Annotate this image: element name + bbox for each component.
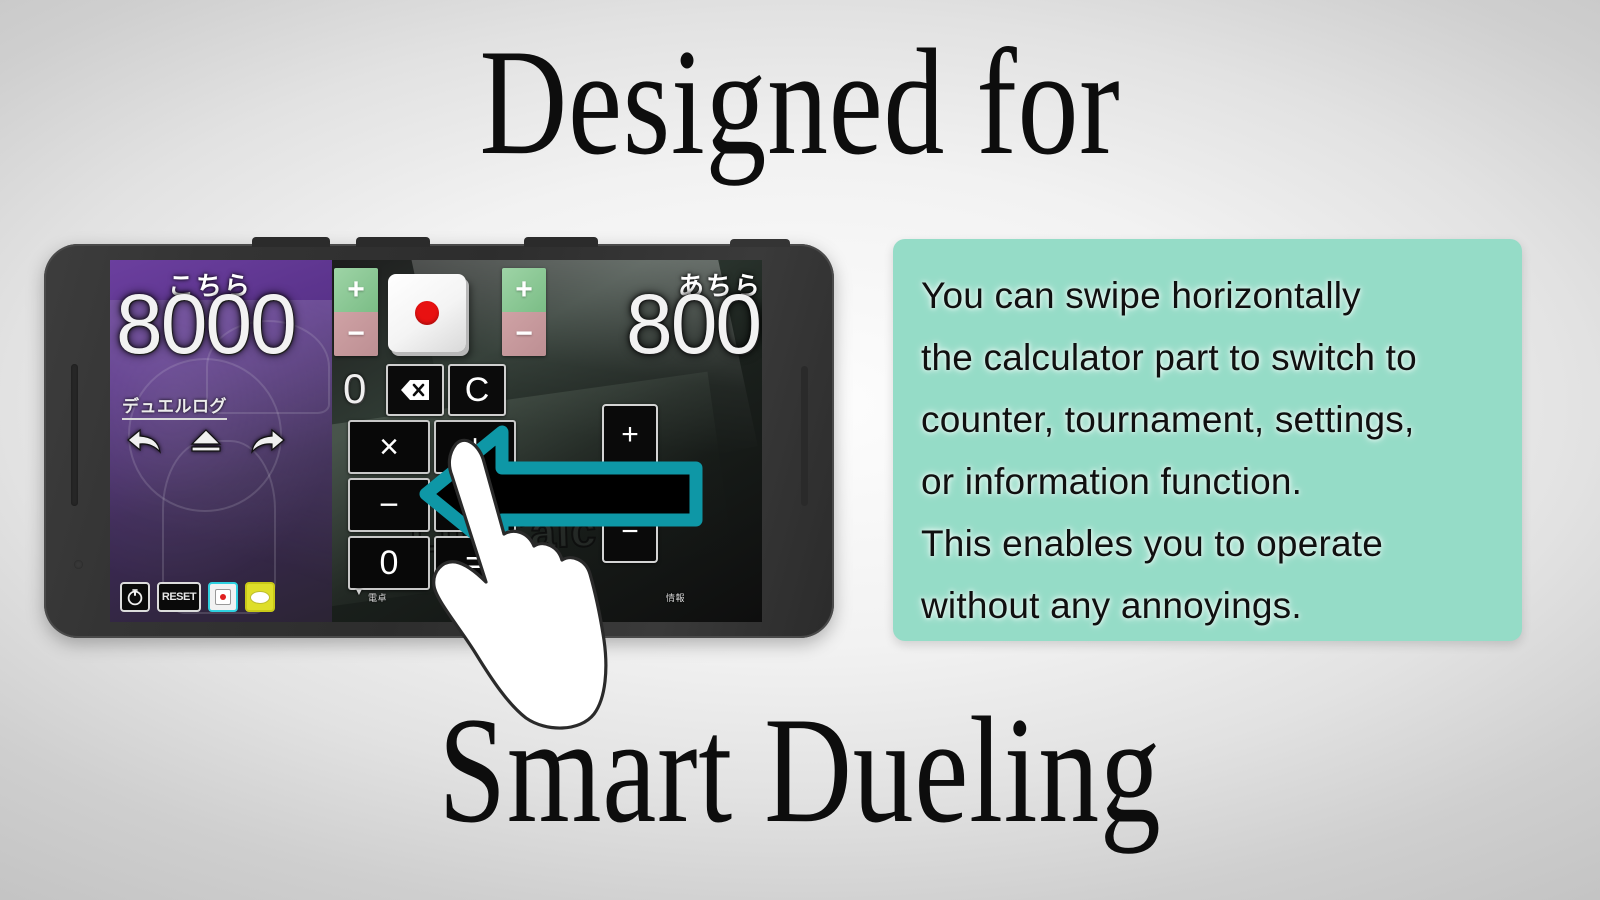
- page-title-top: Designed for: [160, 26, 1440, 178]
- calculator-key-minus[interactable]: −: [348, 478, 430, 532]
- calculator-display: 0: [343, 368, 366, 410]
- reset-button[interactable]: RESET: [157, 582, 201, 612]
- duel-log: デュエルログ: [122, 392, 292, 459]
- info-panel-text: You can swipe horizontally the calculato…: [921, 265, 1496, 637]
- dice-roll-button[interactable]: [388, 274, 466, 352]
- coin-icon[interactable]: [245, 582, 275, 612]
- phone-top-notch: [252, 237, 330, 247]
- calculator-clear-key[interactable]: C: [448, 364, 506, 416]
- backspace-icon: [400, 379, 430, 401]
- promo-screenshot: Designed for LifeCalc こちら 8000 あちら 8000: [0, 0, 1600, 900]
- phone-camera-icon: [74, 560, 83, 569]
- eject-icon[interactable]: [184, 423, 228, 459]
- phone-screen: LifeCalc こちら 8000 あちら 8000 デュエルログ: [110, 260, 762, 622]
- info-line: You can swipe horizontally: [921, 265, 1496, 327]
- minus-icon: −: [347, 319, 365, 349]
- counter-value: 0: [602, 466, 654, 501]
- page-title-bottom: Smart Dueling: [160, 694, 1440, 846]
- phone-speaker-slot-right: [801, 366, 808, 506]
- timer-icon[interactable]: [120, 582, 150, 612]
- info-line: or information function.: [921, 451, 1496, 513]
- clear-label: C: [465, 373, 490, 407]
- phone-mockup: LifeCalc こちら 8000 あちら 8000 デュエルログ: [44, 244, 834, 638]
- right-lp-plus-button[interactable]: +: [502, 268, 546, 312]
- info-line: counter, tournament, settings,: [921, 389, 1496, 451]
- die-one-icon: [415, 301, 439, 325]
- phone-top-notch: [524, 237, 598, 247]
- left-lp-minus-button[interactable]: −: [334, 312, 378, 356]
- tab-label-settings[interactable]: 設定: [562, 591, 581, 604]
- calculator-key-divide[interactable]: ÷: [434, 478, 516, 532]
- tab-label-calculator[interactable]: 電卓: [368, 591, 387, 604]
- info-line: This enables you to operate: [921, 513, 1496, 575]
- counter-increment-button[interactable]: +: [602, 404, 658, 466]
- calculator-backspace-key[interactable]: [386, 364, 444, 416]
- calculator-key-equals[interactable]: =: [434, 536, 516, 590]
- info-line: without any annoyings.: [921, 575, 1496, 637]
- counter-widget: + 0 −: [602, 404, 654, 563]
- duel-log-title: デュエルログ: [122, 392, 227, 420]
- info-line: the calculator part to switch to: [921, 327, 1496, 389]
- right-lp-adjust-pad: + −: [502, 268, 546, 356]
- left-lp-plus-button[interactable]: +: [334, 268, 378, 312]
- undo-arrow-icon[interactable]: [122, 423, 166, 459]
- phone-top-notch: [730, 239, 790, 247]
- plus-icon: +: [515, 275, 533, 305]
- duel-log-controls: [122, 423, 292, 459]
- plus-icon: +: [347, 275, 365, 305]
- left-player-life-points[interactable]: 8000: [116, 282, 295, 366]
- dice-icon[interactable]: [208, 582, 238, 612]
- tab-label-information[interactable]: 情報: [666, 591, 685, 604]
- calculator-key-zero[interactable]: 0: [348, 536, 430, 590]
- left-lp-adjust-pad: + −: [334, 268, 378, 356]
- minus-icon: −: [515, 319, 533, 349]
- phone-top-notch: [356, 237, 430, 247]
- counter-decrement-button[interactable]: −: [602, 501, 658, 563]
- info-panel: You can swipe horizontally the calculato…: [893, 239, 1522, 641]
- right-player-life-points[interactable]: 8000: [626, 282, 762, 366]
- calculator-key-multiply[interactable]: ×: [348, 420, 430, 474]
- tab-label-counter[interactable]: カウンター: [440, 591, 488, 604]
- bottom-toolbar: RESET: [120, 582, 275, 612]
- tab-caret-icon: ▼: [354, 587, 364, 598]
- redo-arrow-icon[interactable]: [246, 423, 290, 459]
- calculator-key-plus[interactable]: +: [434, 420, 516, 474]
- right-lp-minus-button[interactable]: −: [502, 312, 546, 356]
- phone-speaker-slot: [71, 364, 78, 506]
